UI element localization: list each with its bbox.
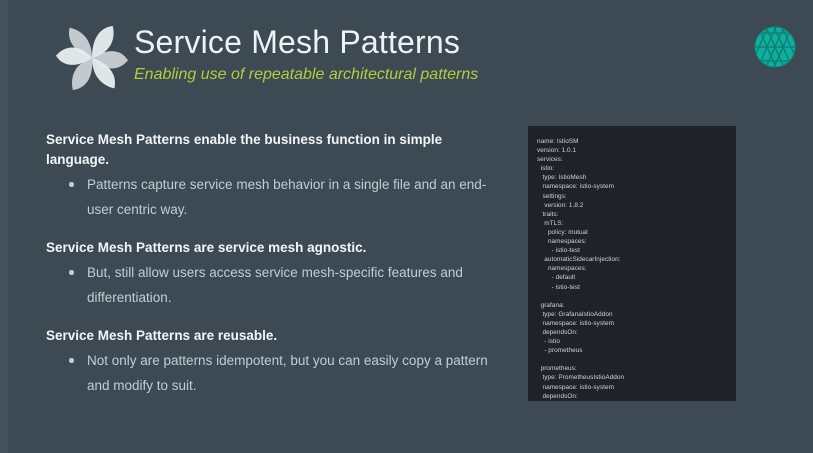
bullet-list: Patterns capture service mesh behavior i… bbox=[46, 172, 506, 222]
layer5-geodesic-sphere-icon bbox=[752, 24, 798, 70]
page-subtitle: Enabling use of repeatable architectural… bbox=[134, 64, 478, 86]
list-item: Patterns capture service mesh behavior i… bbox=[46, 172, 506, 222]
bullet-dot-icon bbox=[69, 358, 74, 363]
list-item: Not only are patterns idempotent, but yo… bbox=[46, 348, 506, 398]
list-item-label: Not only are patterns idempotent, but yo… bbox=[87, 353, 488, 393]
content-section: Service Mesh Patterns enable the busines… bbox=[46, 130, 506, 222]
list-item-label: Patterns capture service mesh behavior i… bbox=[87, 177, 486, 217]
page-title: Service Mesh Patterns bbox=[134, 22, 478, 62]
section-heading: Service Mesh Patterns enable the busines… bbox=[46, 130, 506, 170]
slide-header: Service Mesh Patterns Enabling use of re… bbox=[0, 0, 813, 100]
title-block: Service Mesh Patterns Enabling use of re… bbox=[134, 22, 478, 86]
content-column: Service Mesh Patterns enable the busines… bbox=[46, 130, 506, 398]
bullet-dot-icon bbox=[69, 270, 74, 275]
meshery-pinwheel-logo-icon bbox=[52, 18, 132, 98]
bullet-list: Not only are patterns idempotent, but yo… bbox=[46, 348, 506, 398]
list-item: But, still allow users access service me… bbox=[46, 260, 506, 310]
slide-canvas: Service Mesh Patterns Enabling use of re… bbox=[0, 0, 813, 453]
section-heading: Service Mesh Patterns are reusable. bbox=[46, 326, 506, 346]
bullet-list: But, still allow users access service me… bbox=[46, 260, 506, 310]
content-section: Service Mesh Patterns are service mesh a… bbox=[46, 238, 506, 310]
yaml-code-panel: name: IstioSM version: 1.0.1 services: i… bbox=[528, 126, 736, 401]
list-item-label: But, still allow users access service me… bbox=[87, 265, 463, 305]
content-section: Service Mesh Patterns are reusable. Not … bbox=[46, 326, 506, 398]
section-heading: Service Mesh Patterns are service mesh a… bbox=[46, 238, 506, 258]
bullet-dot-icon bbox=[69, 182, 74, 187]
yaml-code-content: name: IstioSM version: 1.0.1 services: i… bbox=[537, 137, 736, 401]
